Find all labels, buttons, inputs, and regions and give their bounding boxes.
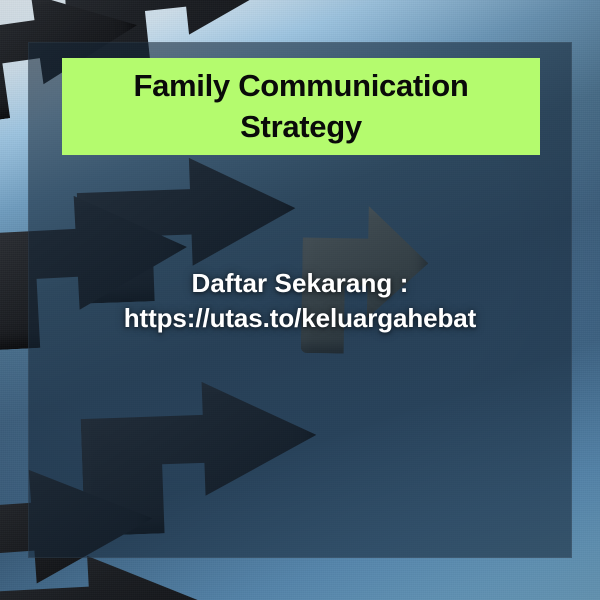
title-line-1: Family Communication	[133, 65, 468, 106]
title-line-2: Strategy	[240, 106, 362, 147]
poster-canvas: Family Communication Strategy Daftar Sek…	[0, 0, 600, 600]
cta-block: Daftar Sekarang : https://utas.to/keluar…	[28, 266, 572, 336]
cta-label: Daftar Sekarang :	[28, 266, 572, 300]
title-banner: Family Communication Strategy	[62, 58, 540, 155]
cta-url[interactable]: https://utas.to/keluargahebat	[28, 300, 572, 336]
